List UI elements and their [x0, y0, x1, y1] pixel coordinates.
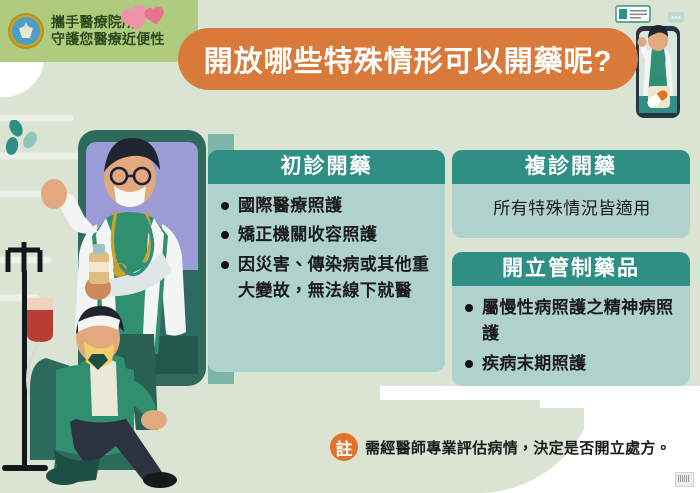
illustration-telemedicine-left: [0, 120, 234, 493]
list-item: 國際醫療照護: [220, 193, 435, 219]
footnote: 註 需經醫師專業評估病情，決定是否開立處方。: [330, 433, 671, 461]
card-controlled-drugs-body: 屬慢性病照護之精神病照護 疾病末期照護: [452, 286, 690, 386]
card-follow-up-heading: 複診開藥: [452, 150, 690, 184]
first-visit-bullet-list: 國際醫療照護 矯正機關收容照護 因災害、傳染病或其他重大變故，無法線下就醫: [220, 193, 435, 304]
org-badge: 攜手醫療院所 守護您醫療近便性: [0, 0, 198, 62]
list-item: 因災害、傳染病或其他重大變故，無法線下就醫: [220, 252, 435, 305]
infographic-poster: 攜手醫療院所 守護您醫療近便性 開放哪些特殊情形可以開藥呢? 初診開藥 國際醫療…: [0, 0, 700, 493]
card-follow-up: 複診開藥 所有特殊情況皆適用: [452, 150, 690, 238]
footnote-marker-badge: 註: [330, 433, 358, 461]
org-badge-line2: 守護您醫療近便性: [51, 31, 165, 48]
card-first-visit-body: 國際醫療照護 矯正機關收容照護 因災害、傳染病或其他重大變故，無法線下就醫: [208, 184, 445, 317]
list-item: 疾病末期照護: [464, 351, 680, 377]
card-controlled-drugs: 開立管制藥品 屬慢性病照護之精神病照護 疾病末期照護: [452, 252, 690, 386]
heart-icons: [128, 9, 178, 31]
heart-icon-small: [148, 10, 161, 23]
card-follow-up-body: 所有特殊情況皆適用: [452, 184, 690, 232]
watermark-icon: [675, 472, 694, 487]
controlled-drugs-bullet-list: 屬慢性病照護之精神病照護 疾病末期照護: [464, 295, 680, 377]
list-item: 屬慢性病照護之精神病照護: [464, 295, 680, 348]
page-title: 開放哪些特殊情形可以開藥呢?: [204, 38, 613, 80]
card-first-visit: 初診開藥 國際醫療照護 矯正機關收容照護 因災害、傳染病或其他重大變故，無法線下…: [208, 150, 445, 372]
title-banner: 開放哪些特殊情形可以開藥呢?: [178, 28, 638, 90]
card-controlled-drugs-heading: 開立管制藥品: [452, 252, 690, 286]
org-emblem-icon: [8, 13, 44, 49]
footnote-text: 需經醫師專業評估病情，決定是否開立處方。: [365, 437, 671, 458]
card-first-visit-heading: 初診開藥: [208, 150, 445, 184]
follow-up-text: 所有特殊情況皆適用: [464, 193, 680, 222]
heart-icon-large: [126, 10, 146, 30]
list-item: 矯正機關收容照護: [220, 222, 435, 248]
